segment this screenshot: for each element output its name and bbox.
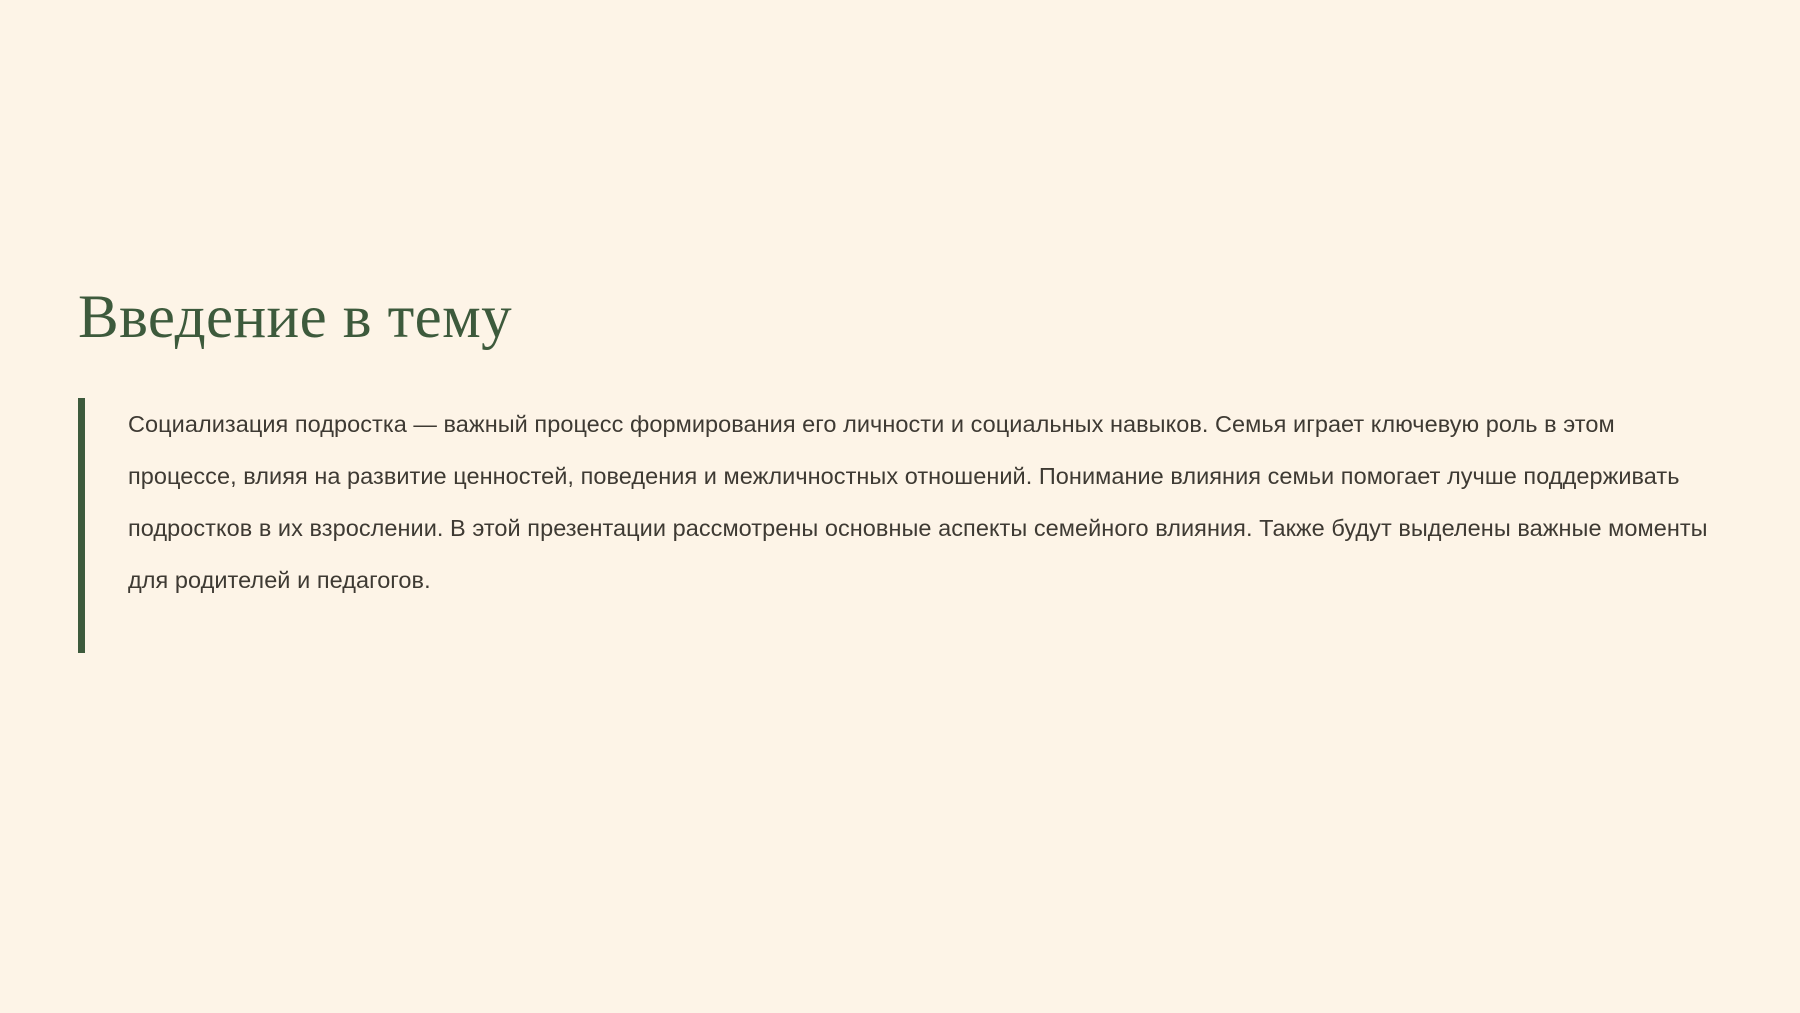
presentation-slide: Введение в тему Социализация подростка —… <box>0 0 1800 1013</box>
page-title: Введение в тему <box>78 286 1728 350</box>
accent-bar <box>78 398 85 653</box>
slide-content: Введение в тему Социализация подростка —… <box>78 286 1728 653</box>
quote-block: Социализация подростка — важный процесс … <box>78 398 1728 653</box>
body-paragraph: Социализация подростка — важный процесс … <box>128 398 1728 606</box>
